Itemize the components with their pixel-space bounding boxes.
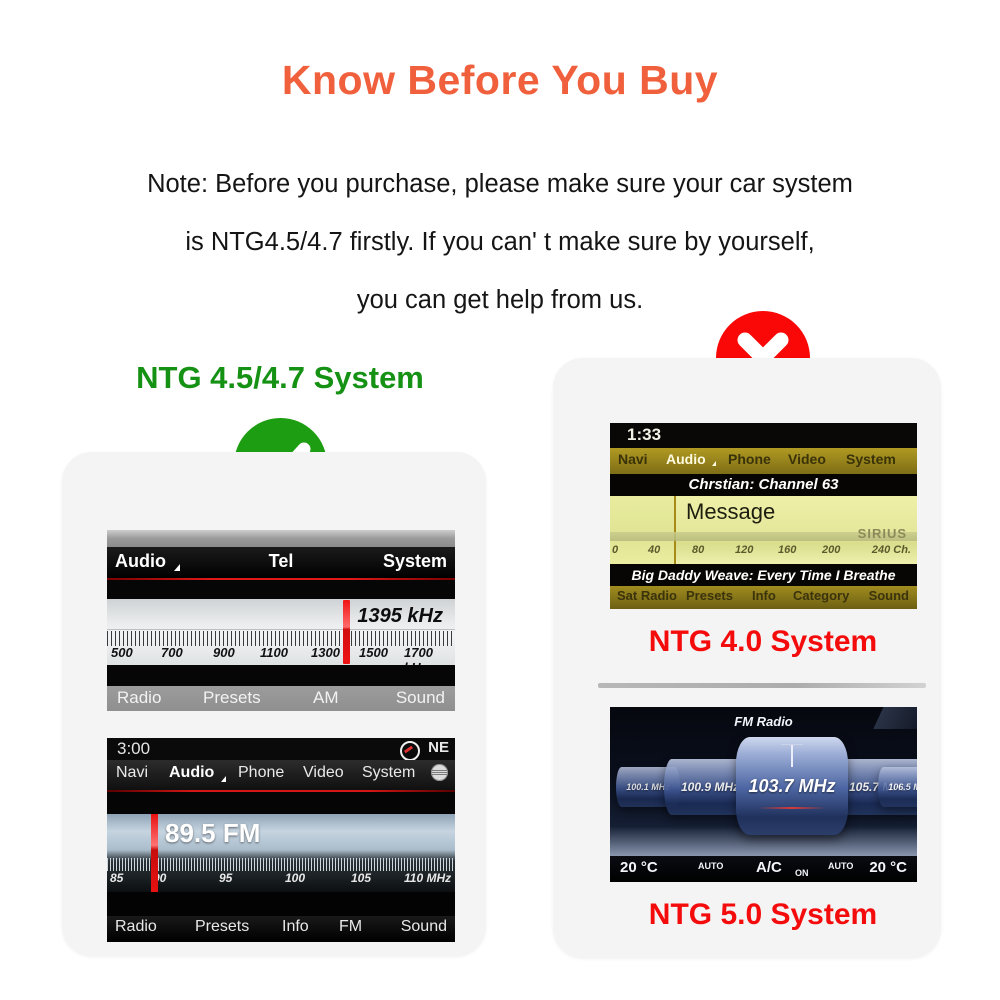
am-frequency-value: 1395 kHz (357, 605, 443, 628)
ntg50-selected-underline (758, 807, 826, 809)
ntg40-tick-0: 0 (612, 544, 618, 556)
ntg50-label: NTG 5.0 System (593, 898, 933, 932)
fm-direction: NE (428, 739, 449, 756)
ntg40-tick-40: 40 (648, 544, 660, 556)
am-tick-labels: 500 700 900 1100 1300 1500 1700 kHz (107, 645, 455, 663)
fm-menu-system[interactable]: System (362, 764, 415, 782)
am-bottom-tabs: Radio Presets AM Sound (107, 686, 455, 711)
fm-clock: 3:00 (117, 739, 150, 759)
ntg50-climate-bar: 20 °C AUTO A/C ON AUTO 20 °C (610, 856, 917, 882)
note-line-1: Note: Before you purchase, please make s… (60, 155, 940, 213)
antenna-icon (791, 745, 793, 767)
fm-tick-105: 105 (351, 871, 371, 885)
fm-tick-85: 85 (110, 871, 123, 885)
ntg50-screen: FM Radio 100.1 MHz 100.9 MHz 103.7 MHz 1… (610, 707, 917, 882)
am-tick-900: 900 (213, 645, 235, 660)
fm-tab-presets[interactable]: Presets (195, 918, 249, 936)
fm-frequency-value: 89.5 FM (165, 818, 260, 849)
ntg40-tick-80: 80 (692, 544, 704, 556)
fm-lower-black-band (107, 892, 455, 916)
ntg50-station-carousel[interactable]: 100.1 MHz 100.9 MHz 103.7 MHz 105.7 MHz … (610, 729, 917, 839)
ntg40-tab-info[interactable]: Info (752, 588, 776, 603)
ntg40-channel-title: Chrstian: Channel 63 (610, 474, 917, 496)
ntg40-clock: 1:33 (627, 425, 661, 445)
ntg40-menu-bar: Navi Audio Phone Video System (610, 448, 917, 474)
am-tick-500: 500 (111, 645, 133, 660)
am-dial[interactable]: 1395 kHz 500 700 900 1100 1300 1500 1700… (107, 599, 455, 665)
ntg45-fm-screen: 3:00 NE Navi Audio Phone Video System 89… (107, 738, 455, 942)
ntg50-selected-station-label: 103.7 MHz (748, 776, 835, 797)
ntg50-station-4[interactable]: 106.5 MHz (878, 767, 917, 807)
am-tuner-needle[interactable] (343, 600, 350, 664)
ntg40-menu-audio[interactable]: Audio (666, 451, 706, 467)
ntg45-label: NTG 4.5/4.7 System (80, 360, 480, 396)
ntg40-message-text: Message (686, 499, 775, 525)
ntg40-menu-system[interactable]: System (846, 451, 896, 467)
ntg40-tick-160: 160 (778, 544, 796, 556)
fm-tab-info[interactable]: Info (282, 918, 309, 936)
ntg40-tab-category[interactable]: Category (793, 588, 849, 603)
ntg40-status-bar: 1:33 (610, 423, 917, 448)
fm-black-band (107, 792, 455, 814)
ntg40-bottom-tabs: Sat Radio Presets Info Category Sound (610, 586, 917, 609)
ntg40-tick-240: 240 Ch. (872, 544, 911, 556)
page-title: Know Before You Buy (0, 57, 1000, 104)
fm-tab-radio[interactable]: Radio (115, 918, 157, 936)
ntg40-tick-200: 200 (822, 544, 840, 556)
fm-menu-video[interactable]: Video (303, 764, 344, 782)
ntg40-dial-area[interactable]: Message SIRIUS 0 40 80 120 160 200 240 C… (610, 496, 917, 564)
climate-temp-left[interactable]: 20 °C (620, 859, 658, 876)
fm-tick-labels: 85 90 95 100 105 110 MHz (107, 871, 455, 889)
fan-auto-icon[interactable]: AUTO (698, 861, 723, 871)
am-black-band (107, 580, 455, 599)
am-tab-am[interactable]: AM (313, 688, 339, 708)
fm-dial[interactable]: 89.5 FM 85 90 95 100 105 110 MHz (107, 814, 455, 892)
fm-menu-navi[interactable]: Navi (116, 764, 148, 782)
fm-tick-110: 110 MHz (404, 871, 451, 885)
note-block: Note: Before you purchase, please make s… (60, 155, 940, 329)
ntg40-menu-video[interactable]: Video (788, 451, 826, 467)
am-menu-system[interactable]: System (383, 551, 447, 572)
am-menu-bar: Audio Tel System (107, 547, 455, 578)
fm-tick-marks (107, 858, 455, 871)
fm-menu-phone[interactable]: Phone (238, 764, 284, 782)
am-tab-sound[interactable]: Sound (396, 688, 445, 708)
fm-bottom-tabs: Radio Presets Info FM Sound (107, 916, 455, 942)
am-tab-presets[interactable]: Presets (203, 688, 261, 708)
am-tick-marks (107, 631, 455, 646)
compass-icon (400, 741, 420, 761)
am-tick-700: 700 (161, 645, 183, 660)
ntg50-title: FM Radio (610, 714, 917, 729)
page-root: Know Before You Buy Note: Before you pur… (0, 0, 1000, 1000)
fm-tick-95: 95 (219, 871, 232, 885)
fm-tab-fm[interactable]: FM (339, 918, 362, 936)
am-top-bar (107, 530, 455, 547)
am-tick-1500: 1500 (359, 645, 388, 660)
ntg40-tick-labels: 0 40 80 120 160 200 240 Ch. (610, 544, 917, 560)
climate-temp-right[interactable]: 20 °C (869, 859, 907, 876)
ntg40-tab-presets[interactable]: Presets (686, 588, 733, 603)
fm-status-bar: 3:00 NE (107, 738, 455, 760)
ntg40-tab-sat-radio[interactable]: Sat Radio (617, 588, 677, 603)
ntg40-label: NTG 4.0 System (593, 625, 933, 659)
am-scale-line (107, 629, 455, 630)
fm-tab-sound[interactable]: Sound (401, 918, 447, 936)
am-menu-tel[interactable]: Tel (269, 551, 294, 572)
rear-auto-icon[interactable]: AUTO (828, 861, 853, 871)
ntg40-screen: 1:33 Navi Audio Phone Video System Chrst… (610, 423, 917, 609)
am-tick-1300: 1300 (311, 645, 340, 660)
fm-tick-100: 100 (285, 871, 305, 885)
sirius-logo-icon: SIRIUS (858, 526, 907, 541)
globe-icon[interactable] (431, 764, 448, 781)
ntg40-tick-120: 120 (735, 544, 753, 556)
ntg40-menu-phone[interactable]: Phone (728, 451, 771, 467)
ntg40-now-playing: Big Daddy Weave: Every Time I Breathe (610, 564, 917, 586)
am-menu-audio[interactable]: Audio (115, 551, 166, 572)
ntg40-menu-navi[interactable]: Navi (618, 451, 648, 467)
card-divider (598, 683, 926, 688)
note-line-2: is NTG4.5/4.7 firstly. If you can' t mak… (60, 213, 940, 271)
ac-button[interactable]: A/C (756, 859, 782, 876)
ntg45-am-screen: Audio Tel System 1395 kHz 500 700 900 11… (107, 530, 455, 711)
ac-state-label: ON (795, 868, 809, 878)
fm-menu-audio[interactable]: Audio (169, 764, 214, 782)
am-lower-black-band (107, 665, 455, 686)
fm-menu-bar: Navi Audio Phone Video System (107, 760, 455, 790)
ntg50-station-selected[interactable]: 103.7 MHz (736, 737, 848, 835)
am-tab-radio[interactable]: Radio (117, 688, 161, 708)
fm-tuner-needle[interactable] (151, 814, 158, 892)
am-tick-1100: 1100 (260, 645, 288, 660)
ntg40-tab-sound[interactable]: Sound (869, 588, 909, 603)
